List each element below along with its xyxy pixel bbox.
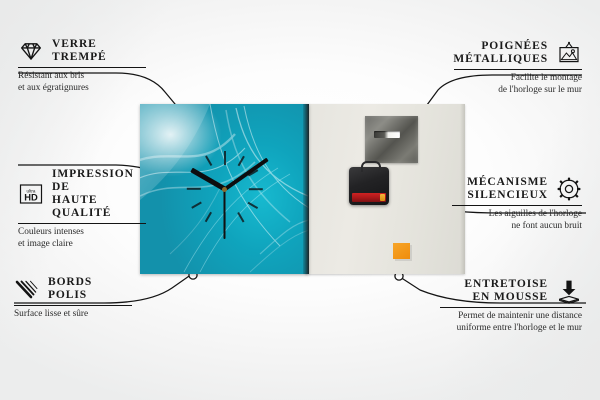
callout-impression-haute-qualite: ultra HD IMPRESSION DEHAUTE QUALITÉ Coul…: [18, 174, 146, 250]
battery: [352, 193, 386, 202]
hanger-slot: [374, 131, 400, 138]
callout-header: MÉCANISMESILENCIEUX: [452, 176, 582, 202]
svg-text:HD: HD: [24, 192, 38, 203]
movement-hanging-loop: [361, 161, 381, 172]
callout-rule: [440, 307, 582, 308]
callout-rule: [18, 67, 146, 68]
callout-subtitle: Les aiguilles de l'horlogene font aucun …: [452, 209, 582, 231]
foam-spacer: [393, 243, 410, 259]
callout-title: VERRETREMPÉ: [52, 38, 107, 64]
callout-poignees-metalliques: POIGNÉESMÉTALLIQUES Facilite le montaged…: [454, 40, 582, 96]
callout-title: IMPRESSION DEHAUTE QUALITÉ: [52, 168, 146, 220]
callout-subtitle: Permet de maintenir une distanceuniforme…: [440, 311, 582, 333]
callout-subtitle: Couleurs intenseset image claire: [18, 227, 146, 249]
callout-rule: [452, 205, 582, 206]
callout-entretoise-en-mousse: ENTRETOISEEN MOUSSE Permet de maintenir …: [440, 278, 582, 334]
clock-face: [140, 104, 309, 274]
callout-rule: [14, 305, 132, 306]
clock-movement: [349, 167, 389, 205]
infographic-canvas: VERRETREMPÉ Résistant aux briset aux égr…: [0, 0, 600, 400]
callout-header: BORDSPOLIS: [14, 276, 132, 302]
polished-edges-icon: [14, 276, 40, 302]
product-image: [140, 104, 465, 276]
gear-icon: [556, 176, 582, 202]
callout-header: VERRETREMPÉ: [18, 38, 146, 64]
callout-header: ultra HD IMPRESSION DEHAUTE QUALITÉ: [18, 168, 146, 220]
callout-subtitle: Facilite le montagede l'horloge sur le m…: [454, 73, 582, 95]
callout-subtitle: Résistant aux briset aux égratignures: [18, 71, 146, 93]
callout-title: MÉCANISMESILENCIEUX: [467, 176, 548, 202]
callout-mecanisme-silencieux: MÉCANISMESILENCIEUX: [452, 176, 582, 232]
callout-header: ENTRETOISEEN MOUSSE: [440, 278, 582, 304]
picture-hanger-icon: [556, 40, 582, 66]
ultra-hd-icon: ultra HD: [18, 181, 44, 207]
diamond-icon: [18, 38, 44, 64]
callout-verre-trempe: VERRETREMPÉ Résistant aux briset aux égr…: [18, 38, 146, 94]
metal-hanger-plate: [365, 116, 418, 163]
callout-title: POIGNÉESMÉTALLIQUES: [453, 40, 548, 66]
callout-header: POIGNÉESMÉTALLIQUES: [454, 40, 582, 66]
callout-rule: [454, 69, 582, 70]
callout-title: ENTRETOISEEN MOUSSE: [464, 278, 548, 304]
clock-back-panel: [305, 104, 465, 274]
callout-rule: [18, 223, 146, 224]
callout-subtitle: Surface lisse et sûre: [14, 309, 132, 320]
callout-title: BORDSPOLIS: [48, 276, 92, 302]
clock-second-hand: [224, 189, 226, 239]
callout-bords-polis: BORDSPOLIS Surface lisse et sûre: [14, 276, 132, 321]
clock-center-cap: [222, 187, 227, 192]
foam-spacer-icon: [556, 278, 582, 304]
